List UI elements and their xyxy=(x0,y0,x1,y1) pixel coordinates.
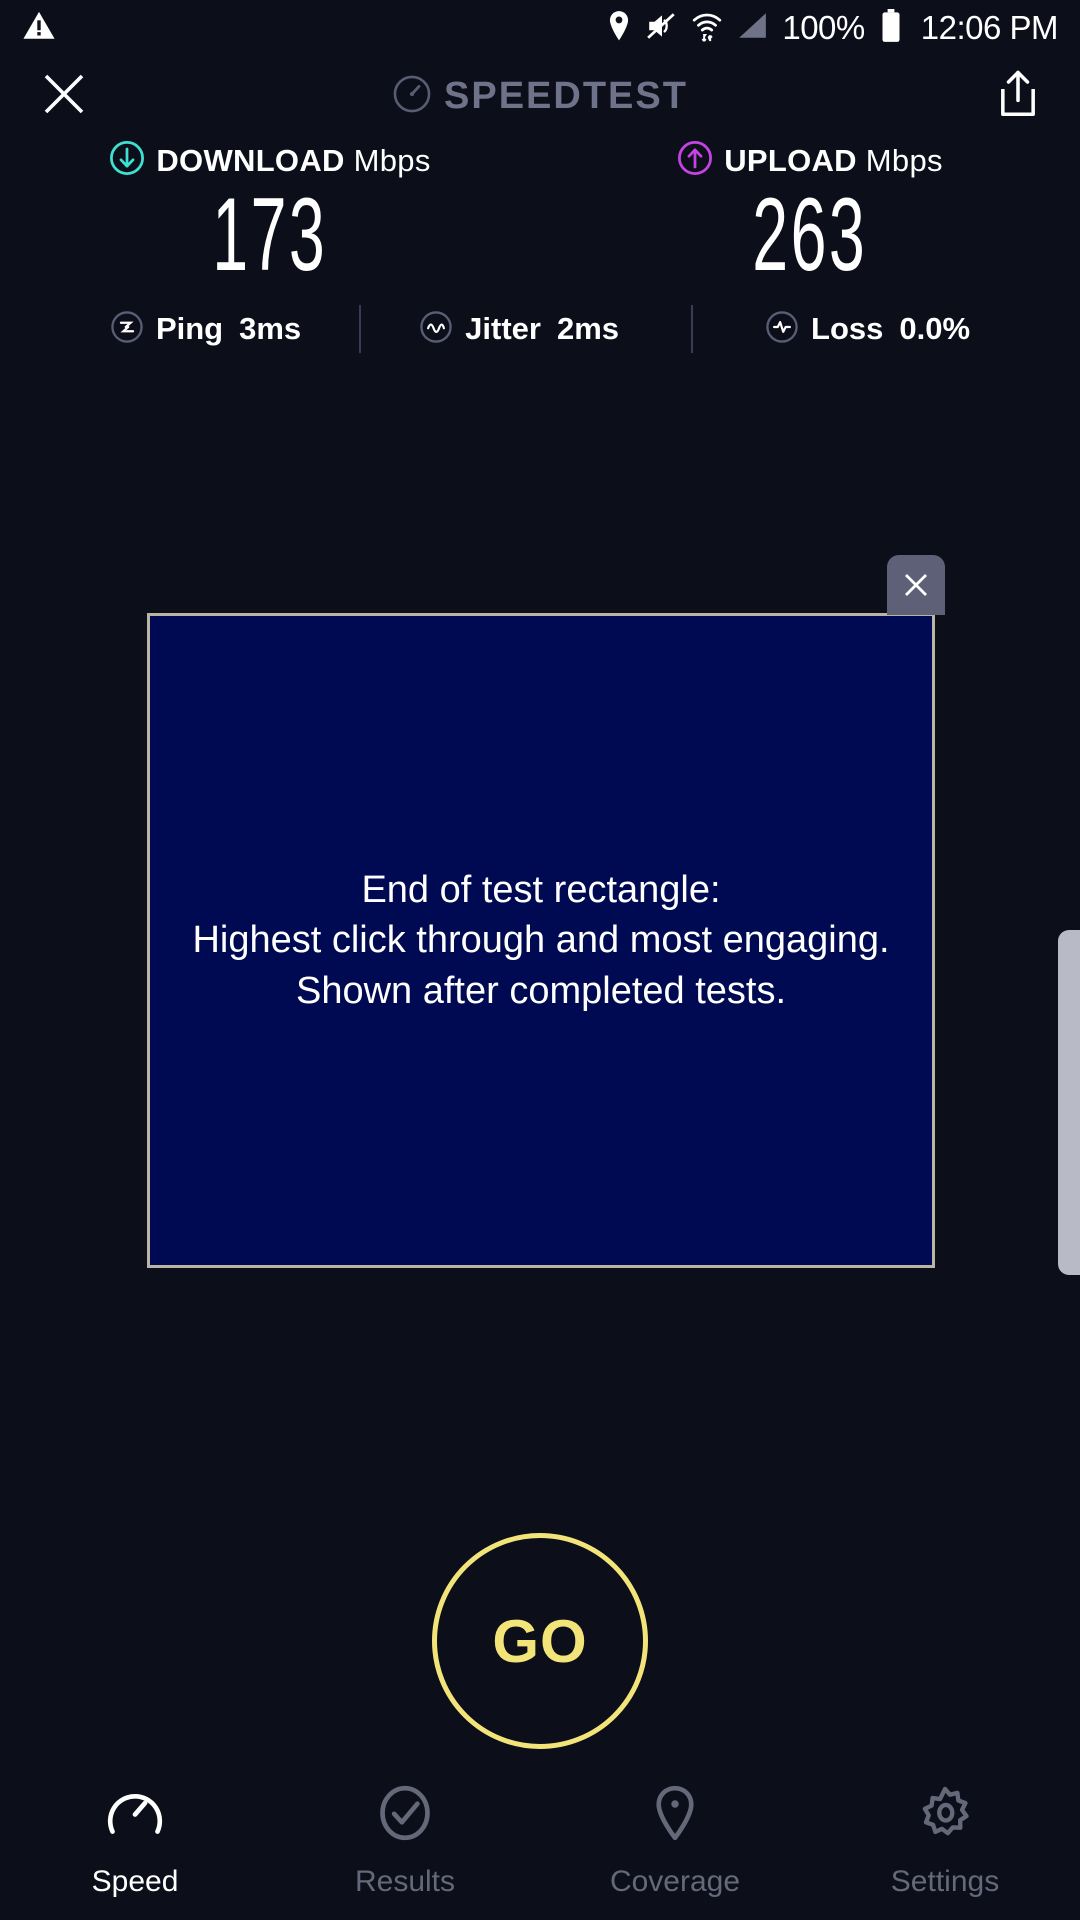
metric-divider-2 xyxy=(691,305,693,353)
page-scrollbar[interactable] xyxy=(1058,930,1080,1275)
loss-value: 0.0% xyxy=(899,311,970,347)
ad-line-2: Highest click through and most engaging. xyxy=(192,915,889,965)
metric-loss: Loss 0.0% xyxy=(759,310,976,349)
status-bar-right: 100% 12:06 PM xyxy=(606,9,1058,48)
results-panel: DOWNLOAD Mbps 173 UPLOAD Mbps 263 xyxy=(0,140,1080,353)
status-bar-clock: 12:06 PM xyxy=(921,9,1058,47)
battery-full-icon xyxy=(879,9,903,48)
status-bar: 100% 12:06 PM xyxy=(0,0,1080,56)
nav-label-speed: Speed xyxy=(92,1865,179,1899)
bottom-navigation: Speed Results Coverage Settings xyxy=(0,1760,1080,1920)
app-title-group: SPEEDTEST xyxy=(0,56,1080,136)
ad-close-icon xyxy=(901,570,931,600)
map-pin-icon xyxy=(644,1782,706,1849)
upload-arrow-icon xyxy=(677,140,713,181)
nav-label-settings: Settings xyxy=(891,1865,999,1899)
upload-label: UPLOAD Mbps xyxy=(724,143,943,179)
share-button[interactable] xyxy=(996,70,1040,123)
warning-triangle-icon xyxy=(22,9,56,48)
ad-close-button[interactable] xyxy=(887,555,945,615)
download-value: 173 xyxy=(212,183,327,287)
loss-label: Loss xyxy=(811,311,883,347)
ping-icon xyxy=(110,310,144,349)
ad-line-3: Shown after completed tests. xyxy=(192,966,889,1016)
ad-line-1: End of test rectangle: xyxy=(192,865,889,915)
upload-header: UPLOAD Mbps xyxy=(677,140,943,181)
network-metrics: Ping 3ms Jitter 2ms Loss 0.0 xyxy=(0,305,1080,353)
speed-readouts: DOWNLOAD Mbps 173 UPLOAD Mbps 263 xyxy=(0,140,1080,287)
nav-label-results: Results xyxy=(355,1865,455,1899)
ping-label: Ping xyxy=(156,311,223,347)
ad-creative[interactable]: End of test rectangle: Highest click thr… xyxy=(147,613,935,1268)
wifi-icon xyxy=(692,10,722,47)
nav-item-coverage[interactable]: Coverage xyxy=(540,1760,810,1920)
speedometer-icon xyxy=(104,1782,166,1849)
upload-result: UPLOAD Mbps 263 xyxy=(540,140,1080,287)
download-label: DOWNLOAD Mbps xyxy=(156,143,430,179)
page-title: SPEEDTEST xyxy=(444,75,688,118)
download-result: DOWNLOAD Mbps 173 xyxy=(0,140,540,287)
speedometer-icon xyxy=(392,74,432,119)
check-circle-icon xyxy=(374,1782,436,1849)
ping-value: 3ms xyxy=(239,311,301,347)
gear-icon xyxy=(914,1782,976,1849)
download-header: DOWNLOAD Mbps xyxy=(109,140,430,181)
app-header: SPEEDTEST xyxy=(0,56,1080,136)
cellular-signal-icon xyxy=(736,11,768,46)
jitter-value: 2ms xyxy=(557,311,619,347)
ad-text: End of test rectangle: Highest click thr… xyxy=(192,865,889,1015)
nav-label-coverage: Coverage xyxy=(610,1865,740,1899)
battery-percent-label: 100% xyxy=(782,9,864,47)
close-icon xyxy=(40,70,88,118)
jitter-icon xyxy=(419,310,453,349)
share-icon xyxy=(996,70,1040,118)
advertisement: End of test rectangle: Highest click thr… xyxy=(147,613,935,1268)
location-pin-icon xyxy=(606,10,632,47)
nav-item-results[interactable]: Results xyxy=(270,1760,540,1920)
volume-muted-icon xyxy=(646,11,678,46)
metric-jitter: Jitter 2ms xyxy=(413,310,625,349)
nav-item-speed[interactable]: Speed xyxy=(0,1760,270,1920)
upload-value: 263 xyxy=(752,183,867,287)
close-button[interactable] xyxy=(40,70,88,123)
metric-divider-1 xyxy=(359,305,361,353)
metric-ping: Ping 3ms xyxy=(104,310,307,349)
jitter-label: Jitter xyxy=(465,311,541,347)
loss-icon xyxy=(765,310,799,349)
download-arrow-icon xyxy=(109,140,145,181)
go-button[interactable]: GO xyxy=(432,1533,648,1749)
status-bar-left xyxy=(22,9,56,48)
nav-item-settings[interactable]: Settings xyxy=(810,1760,1080,1920)
go-button-label: GO xyxy=(492,1607,587,1676)
